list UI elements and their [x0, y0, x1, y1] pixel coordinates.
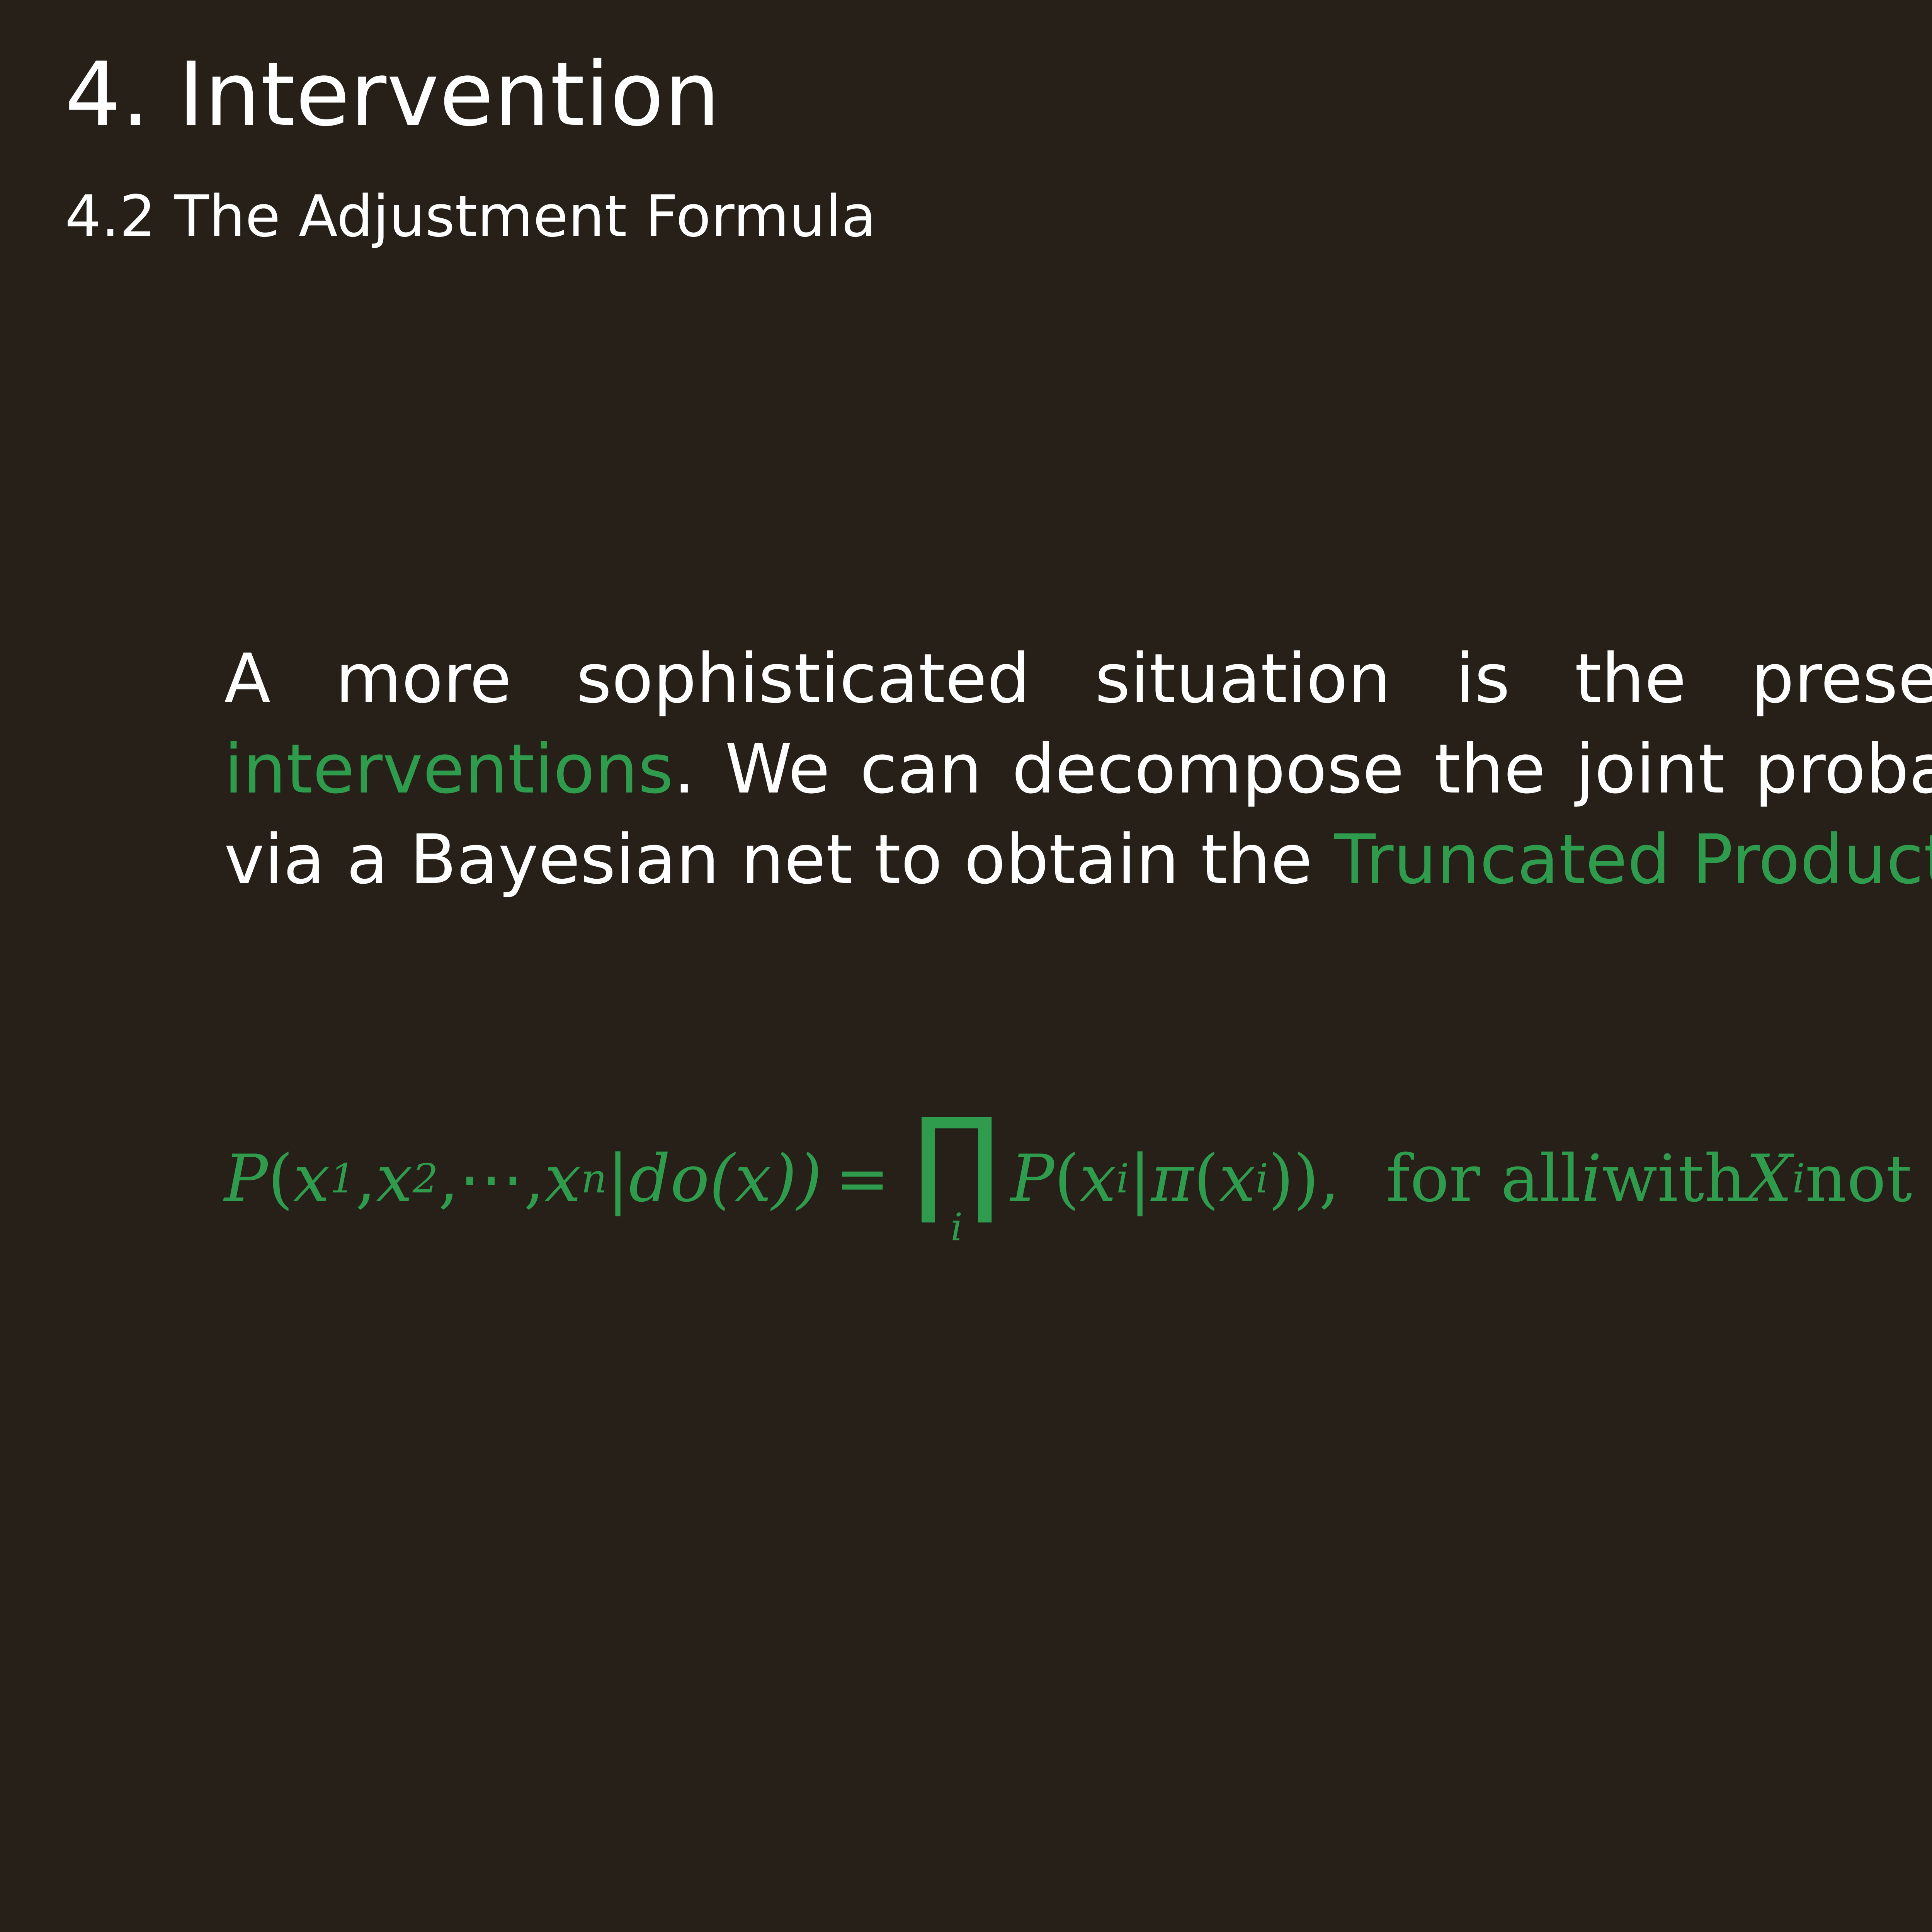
slide-header: 4. Intervention 4.2 The Adjustment Formu… — [65, 50, 876, 245]
highlight-truncated-product-rule: Truncated Product Rule — [1334, 820, 1932, 899]
formula-comma-3: , — [524, 1141, 544, 1216]
slide-root: 4. Intervention 4.2 The Adjustment Formu… — [0, 0, 1932, 1932]
formula-equals: = — [835, 1141, 889, 1216]
condition-not-in: not in — [1805, 1141, 1932, 1216]
formula-ellipsis: ⋯ — [459, 1141, 524, 1216]
formula-pi-open-paren: ( — [1194, 1141, 1219, 1216]
formula-conditional-bar: | — [607, 1141, 629, 1216]
formula-rhs-open-paren: ( — [1054, 1141, 1080, 1216]
formula-comma-2: , — [438, 1141, 459, 1216]
formula-x2: x — [376, 1141, 413, 1216]
formula-lhs-open-paren: ( — [268, 1141, 293, 1216]
formula-do-operator: do(x)) — [629, 1141, 822, 1216]
formula-pi-x: x — [1219, 1141, 1255, 1216]
formula-product-operator: ∏i — [913, 1115, 1000, 1247]
condition-index-i: i — [1581, 1141, 1602, 1216]
truncated-product-rule-formula: P(x1, x2, ⋯, xn|do(x))=∏iP(xi|π(xi)),for… — [224, 1113, 1932, 1244]
formula-x1: x — [293, 1141, 330, 1216]
formula-rhs-P: P — [1010, 1141, 1054, 1216]
condition-for-all: for all — [1386, 1141, 1581, 1216]
body-content: A more sophisticated situation is the pr… — [224, 634, 1932, 905]
condition-X: X — [1746, 1141, 1793, 1216]
condition-with: with — [1602, 1141, 1746, 1216]
formula-xn: x — [544, 1141, 581, 1216]
formula-comma-end: , — [1319, 1141, 1340, 1216]
product-symbol: ∏ — [913, 1115, 1000, 1206]
para-text-1: A more sophisticated situation is the pr… — [224, 639, 1932, 718]
formula-comma-1: , — [355, 1141, 376, 1216]
formula-pi-close-paren: )) — [1269, 1141, 1319, 1216]
formula-pi: π — [1151, 1141, 1193, 1216]
frame-subtitle: 4.2 The Adjustment Formula — [65, 188, 876, 245]
product-index: i — [951, 1209, 963, 1247]
body-paragraph: A more sophisticated situation is the pr… — [224, 634, 1932, 905]
formula-rhs-bar: | — [1129, 1141, 1151, 1216]
formula-rhs-x: x — [1080, 1141, 1116, 1216]
formula-lhs-P: P — [224, 1141, 268, 1216]
frame-title: 4. Intervention — [65, 50, 876, 138]
